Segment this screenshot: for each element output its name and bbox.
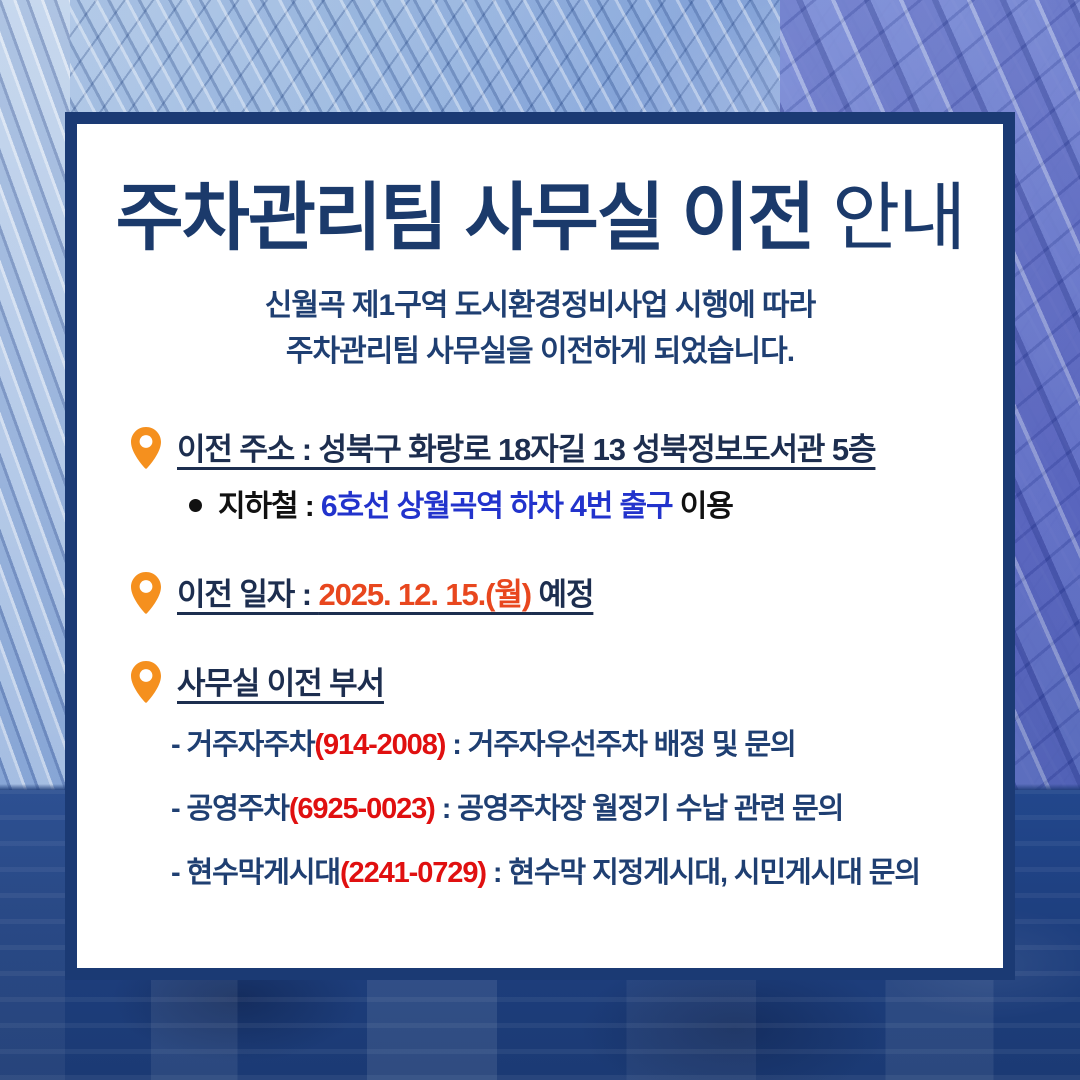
page-title: 주차관리팀 사무실 이전 안내 — [111, 124, 969, 257]
section-address: 이전 주소 : 성북구 화랑로 18자길 13 성북정보도서관 5층 지하철 :… — [129, 424, 969, 525]
dept-desc: : 거주자우선주차 배정 및 문의 — [445, 729, 795, 761]
list-item: - 거주자주차(914-2008) : 거주자우선주차 배정 및 문의 — [171, 721, 969, 763]
list-item: - 공영주차(6925-0023) : 공영주차장 월정기 수납 관련 문의 — [171, 785, 969, 827]
move-date-suffix: 예정 — [531, 577, 593, 612]
page-title-strong: 주차관리팀 사무실 이전 — [116, 176, 814, 259]
dept-phone: (2241-0729) — [340, 857, 486, 889]
bullet-dot-icon — [189, 499, 202, 512]
location-pin-icon — [129, 426, 163, 470]
subtitle-line-2: 주차관리팀 사무실을 이전하게 되었습니다. — [286, 335, 794, 368]
notice-card-inner: 주차관리팀 사무실 이전 안내 신월곡 제1구역 도시환경정비사업 시행에 따라… — [77, 124, 1003, 968]
dept-name: - 현수막게시대 — [171, 857, 340, 889]
address-heading: 이전 주소 : 성북구 화랑로 18자길 13 성북정보도서관 5층 — [177, 424, 969, 469]
departments-heading: 사무실 이전 부서 — [177, 658, 969, 703]
location-pin-icon — [129, 571, 163, 615]
dept-phone: (6925-0023) — [289, 793, 435, 825]
subtitle-line-1: 신월곡 제1구역 도시환경정비사업 시행에 따라 — [265, 289, 815, 322]
subtitle: 신월곡 제1구역 도시환경정비사업 시행에 따라 주차관리팀 사무실을 이전하게… — [111, 283, 969, 376]
move-date-value: 2025. 12. 15.(월) — [318, 577, 531, 612]
background-glass-strip-left — [0, 0, 70, 800]
section-departments: 사무실 이전 부서 - 거주자주차(914-2008) : 거주자우선주차 배정… — [129, 658, 969, 891]
subway-suffix: 이용 — [672, 490, 732, 523]
dept-desc: : 공영주차장 월정기 수납 관련 문의 — [435, 793, 843, 825]
section-move-date: 이전 일자 : 2025. 12. 15.(월) 예정 — [129, 569, 969, 614]
subway-line: 지하철 : 6호선 상월곡역 하차 4번 출구 이용 — [189, 481, 969, 525]
notice-card: 주차관리팀 사무실 이전 안내 신월곡 제1구역 도시환경정비사업 시행에 따라… — [65, 112, 1015, 980]
dept-name: - 공영주차 — [171, 793, 289, 825]
dept-phone: (914-2008) — [314, 729, 445, 761]
move-date-heading: 이전 일자 : 2025. 12. 15.(월) 예정 — [177, 569, 969, 614]
subway-label: 지하철 : — [218, 490, 321, 523]
poster-canvas: 주차관리팀 사무실 이전 안내 신월곡 제1구역 도시환경정비사업 시행에 따라… — [0, 0, 1080, 1080]
notice-body: 이전 주소 : 성북구 화랑로 18자길 13 성북정보도서관 5층 지하철 :… — [111, 424, 969, 891]
dept-name: - 거주자주차 — [171, 729, 314, 761]
departments-list: - 거주자주차(914-2008) : 거주자우선주차 배정 및 문의 - 공영… — [171, 721, 969, 891]
list-item: - 현수막게시대(2241-0729) : 현수막 지정게시대, 시민게시대 문… — [171, 849, 969, 891]
location-pin-icon — [129, 660, 163, 704]
move-date-label: 이전 일자 : — [177, 577, 318, 612]
page-title-light: 안내 — [814, 176, 965, 259]
subway-route: 6호선 상월곡역 하차 4번 출구 — [321, 490, 673, 523]
dept-desc: : 현수막 지정게시대, 시민게시대 문의 — [486, 857, 920, 889]
